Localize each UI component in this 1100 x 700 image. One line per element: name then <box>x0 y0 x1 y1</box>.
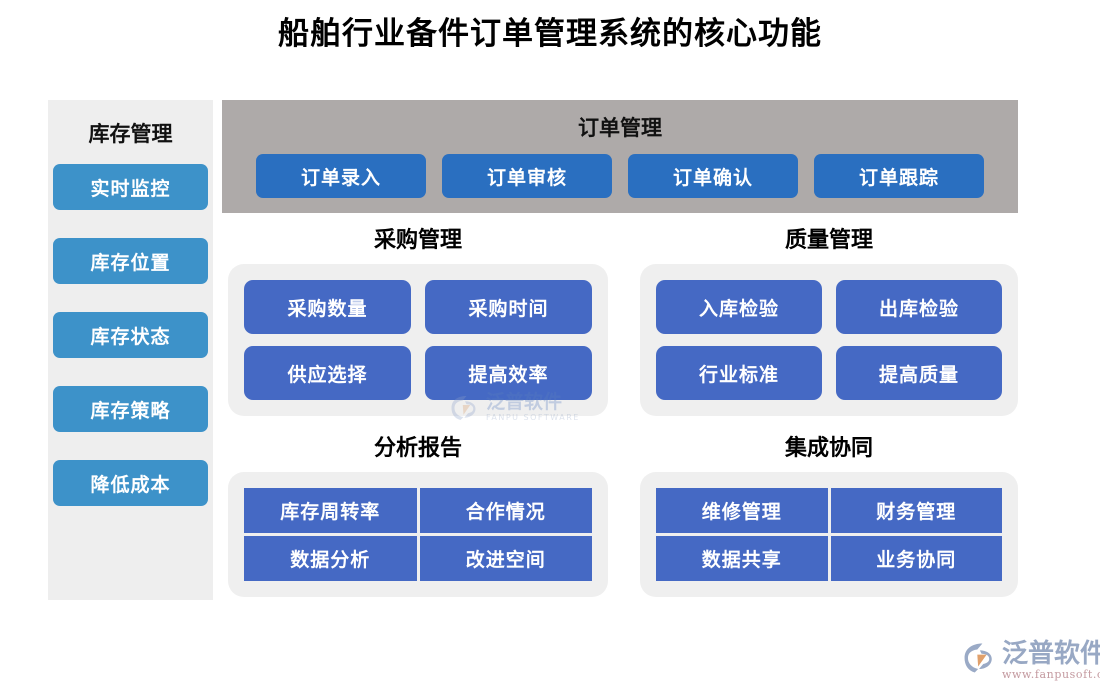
infographic-root: 船舶行业备件订单管理系统的核心功能 库存管理 实时监控 库存位置 库存状态 库存… <box>0 0 1100 700</box>
cell-business-collaboration[interactable]: 业务协同 <box>831 536 1003 581</box>
card-grid-quality: 入库检验 出库检验 行业标准 提高质量 <box>656 280 1002 400</box>
card-analysis: 库存周转率 合作情况 数据分析 改进空间 <box>228 472 608 597</box>
fanpu-logo-mark-icon <box>962 642 996 674</box>
card-grid-integration: 维修管理 财务管理 数据共享 业务协同 <box>656 488 1002 581</box>
order-button-entry[interactable]: 订单录入 <box>256 154 426 198</box>
order-management-panel: 订单管理 订单录入 订单审核 订单确认 订单跟踪 <box>222 100 1018 213</box>
sidebar-item-inventory-location[interactable]: 库存位置 <box>53 238 208 284</box>
cell-efficiency-improvement[interactable]: 提高效率 <box>425 346 592 400</box>
cell-data-sharing[interactable]: 数据共享 <box>656 536 828 581</box>
section-analysis-report: 分析报告 库存周转率 合作情况 数据分析 改进空间 <box>228 430 608 597</box>
cell-inbound-inspection[interactable]: 入库检验 <box>656 280 822 334</box>
cell-supplier-selection[interactable]: 供应选择 <box>244 346 411 400</box>
section-title-quality: 质量管理 <box>640 222 1018 254</box>
cell-industry-standard[interactable]: 行业标准 <box>656 346 822 400</box>
section-integration-collaboration: 集成协同 维修管理 财务管理 数据共享 业务协同 <box>640 430 1018 597</box>
card-integration: 维修管理 财务管理 数据共享 业务协同 <box>640 472 1018 597</box>
card-purchase: 采购数量 采购时间 供应选择 提高效率 <box>228 264 608 416</box>
order-button-row: 订单录入 订单审核 订单确认 订单跟踪 <box>222 154 1018 198</box>
order-button-review[interactable]: 订单审核 <box>442 154 612 198</box>
card-quality: 入库检验 出库检验 行业标准 提高质量 <box>640 264 1018 416</box>
cell-improvement-space[interactable]: 改进空间 <box>420 536 593 581</box>
fanpu-logo: 泛普软件 www.fanpusoft.com <box>962 640 1100 682</box>
cell-quality-improvement[interactable]: 提高质量 <box>836 346 1002 400</box>
cell-outbound-inspection[interactable]: 出库检验 <box>836 280 1002 334</box>
cell-data-analysis[interactable]: 数据分析 <box>244 536 417 581</box>
logo-brand-cn: 泛普软件 <box>1002 640 1100 668</box>
cell-purchase-time[interactable]: 采购时间 <box>425 280 592 334</box>
section-title-analysis: 分析报告 <box>228 430 608 462</box>
sidebar-item-cost-reduction[interactable]: 降低成本 <box>53 460 208 506</box>
inventory-sidebar: 库存管理 实时监控 库存位置 库存状态 库存策略 降低成本 <box>48 100 213 600</box>
cell-purchase-quantity[interactable]: 采购数量 <box>244 280 411 334</box>
cell-maintenance-management[interactable]: 维修管理 <box>656 488 828 533</box>
order-button-track[interactable]: 订单跟踪 <box>814 154 984 198</box>
order-management-title: 订单管理 <box>222 112 1018 142</box>
sidebar-list: 实时监控 库存位置 库存状态 库存策略 降低成本 <box>48 164 213 506</box>
logo-text-block: 泛普软件 www.fanpusoft.com <box>1002 640 1100 682</box>
card-grid-purchase: 采购数量 采购时间 供应选择 提高效率 <box>244 280 592 400</box>
sidebar-item-inventory-status[interactable]: 库存状态 <box>53 312 208 358</box>
cell-finance-management[interactable]: 财务管理 <box>831 488 1003 533</box>
sidebar-item-realtime-monitor[interactable]: 实时监控 <box>53 164 208 210</box>
section-title-purchase: 采购管理 <box>228 222 608 254</box>
section-purchase-management: 采购管理 采购数量 采购时间 供应选择 提高效率 <box>228 222 608 416</box>
card-grid-analysis: 库存周转率 合作情况 数据分析 改进空间 <box>244 488 592 581</box>
sidebar-title: 库存管理 <box>48 118 213 148</box>
sidebar-item-inventory-strategy[interactable]: 库存策略 <box>53 386 208 432</box>
order-button-confirm[interactable]: 订单确认 <box>628 154 798 198</box>
section-title-integration: 集成协同 <box>640 430 1018 462</box>
cell-inventory-turnover[interactable]: 库存周转率 <box>244 488 417 533</box>
cell-cooperation-status[interactable]: 合作情况 <box>420 488 593 533</box>
page-title: 船舶行业备件订单管理系统的核心功能 <box>0 14 1100 54</box>
logo-url: www.fanpusoft.com <box>1002 668 1100 682</box>
section-quality-management: 质量管理 入库检验 出库检验 行业标准 提高质量 <box>640 222 1018 416</box>
